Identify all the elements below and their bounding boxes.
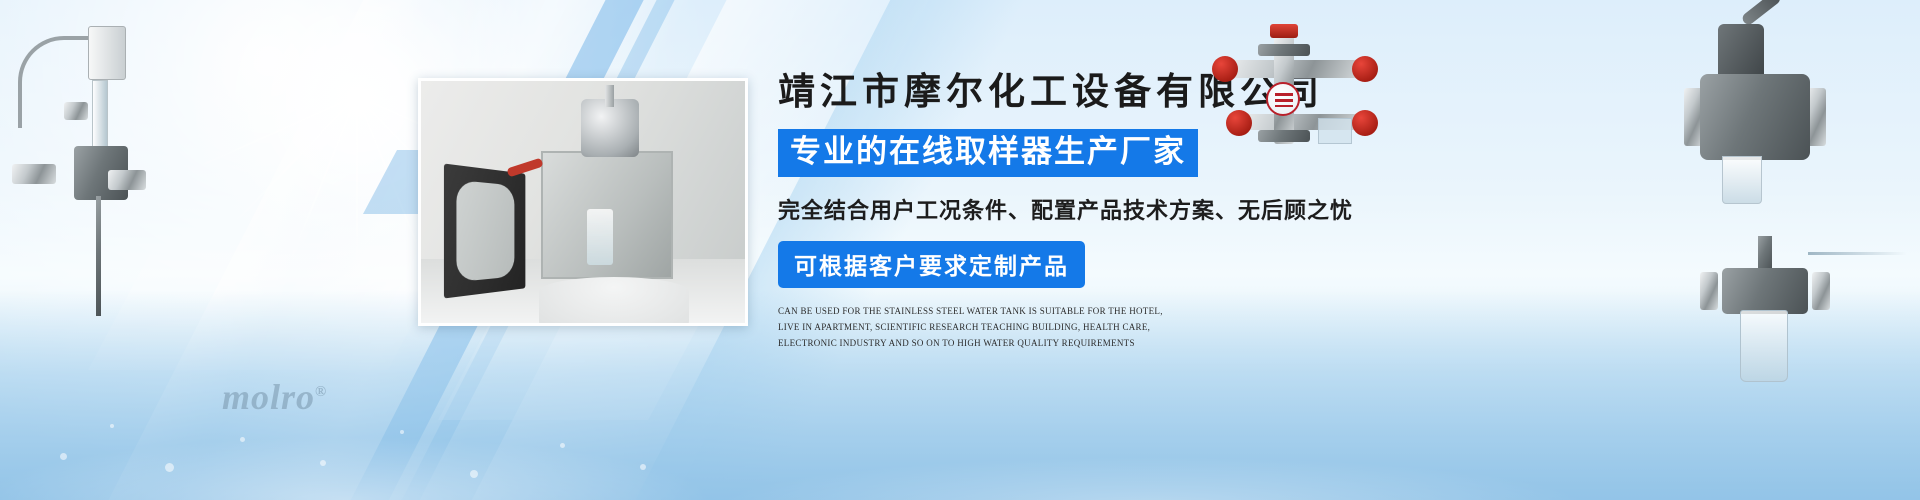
english-paragraph: CAN BE USED FOR THE STAINLESS STEEL WATE… xyxy=(778,304,1166,351)
watermark-logo: molro® xyxy=(222,376,327,418)
watermark-text: molro xyxy=(222,377,315,417)
sampler-cabinet-photo xyxy=(418,78,748,326)
watermark-registered-mark: ® xyxy=(315,384,327,400)
promo-banner: 靖江市摩尔化工设备有限公司 专业的在线取样器生产厂家 完全结合用户工况条件、配置… xyxy=(0,0,1920,500)
description-line: 完全结合用户工况条件、配置产品技术方案、无后顾之忧 xyxy=(778,193,1418,225)
company-name: 靖江市摩尔化工设备有限公司 xyxy=(778,72,1418,115)
custom-product-badge: 可根据客户要求定制产品 xyxy=(778,241,1085,288)
headline-highlight: 专业的在线取样器生产厂家 xyxy=(778,129,1198,178)
